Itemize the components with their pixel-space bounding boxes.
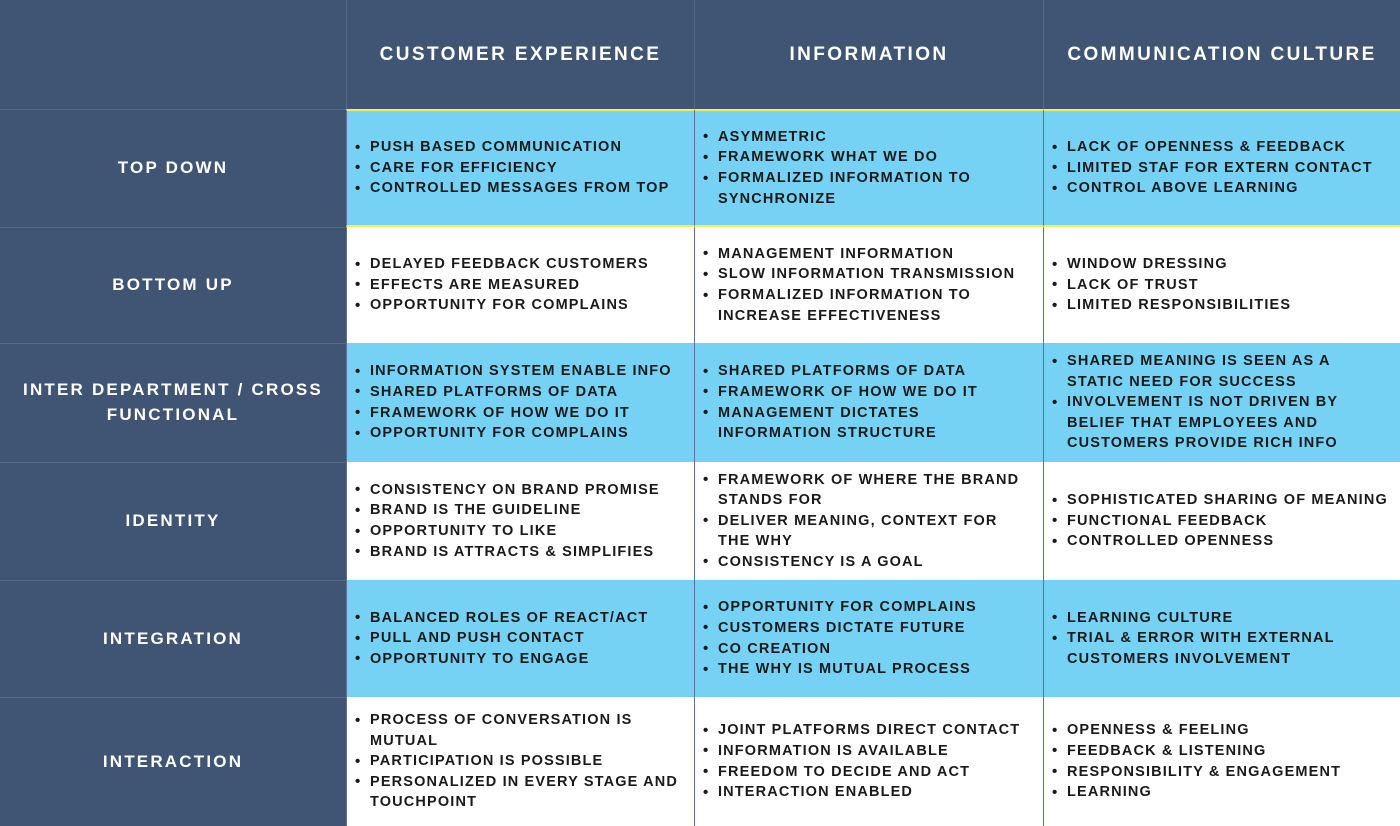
cell-top-down-communication-culture: LACK OF OPENNESS & FEEDBACKLIMITED STAF … [1043,109,1400,227]
bullet-item: THE WHY IS MUTUAL PROCESS [703,659,1033,680]
bullet-item: SHARED PLATFORMS OF DATA [355,382,684,403]
bullet-item: SHARED MEANING IS SEEN AS A STATIC NEED … [1052,351,1390,392]
cell-identity-information: FRAMEWORK OF WHERE THE BRAND STANDS FORD… [694,462,1043,580]
bullet-list: PUSH BASED COMMUNICATIONCARE FOR EFFICIE… [355,137,684,199]
cell-integration-customer-experience: BALANCED ROLES OF REACT/ACTPULL AND PUSH… [346,580,694,697]
bullet-item: EFFECTS ARE MEASURED [355,275,684,296]
bullet-item: INVOLVEMENT IS NOT DRIVEN BY BELIEF THAT… [1052,392,1390,454]
bullet-item: BRAND IS ATTRACTS & SIMPLIFIES [355,542,684,563]
column-header-label: COMMUNICATION CULTURE [1067,44,1376,66]
bullet-item: PROCESS OF CONVERSATION IS MUTUAL [355,710,684,751]
cell-interaction-information: JOINT PLATFORMS DIRECT CONTACTINFORMATIO… [694,697,1043,826]
bullet-item: JOINT PLATFORMS DIRECT CONTACT [703,720,1033,741]
bullet-list: LEARNING CULTURETRIAL & ERROR WITH EXTER… [1052,608,1390,670]
bullet-item: FRAMEWORK WHAT WE DO [703,147,1033,168]
row-header-interaction: INTERACTION [0,697,346,826]
cell-bottom-up-customer-experience: DELAYED FEEDBACK CUSTOMERSEFFECTS ARE ME… [346,227,694,343]
bullet-list: SHARED PLATFORMS OF DATAFRAMEWORK OF HOW… [703,361,1033,443]
bullet-item: MANAGEMENT INFORMATION [703,244,1033,265]
bullet-item: INFORMATION SYSTEM ENABLE INFO [355,361,684,382]
bullet-item: TRIAL & ERROR WITH EXTERNAL CUSTOMERS IN… [1052,628,1390,669]
bullet-item: FRAMEWORK OF WHERE THE BRAND STANDS FOR [703,470,1033,511]
bullet-list: BALANCED ROLES OF REACT/ACTPULL AND PUSH… [355,608,684,670]
bullet-item: FORMALIZED INFORMATION TO SYNCHRONIZE [703,168,1033,209]
matrix-corner-cell [0,0,346,109]
bullet-item: CONTROL ABOVE LEARNING [1052,178,1390,199]
bullet-list: MANAGEMENT INFORMATIONSLOW INFORMATION T… [703,244,1033,326]
bullet-list: LACK OF OPENNESS & FEEDBACKLIMITED STAF … [1052,137,1390,199]
bullet-item: FUNCTIONAL FEEDBACK [1052,511,1390,532]
cell-inter-department-customer-experience: INFORMATION SYSTEM ENABLE INFOSHARED PLA… [346,343,694,462]
column-header-label: INFORMATION [789,44,948,66]
cell-identity-communication-culture: SOPHISTICATED SHARING OF MEANINGFUNCTION… [1043,462,1400,580]
bullet-item: FORMALIZED INFORMATION TO INCREASE EFFEC… [703,285,1033,326]
cell-integration-communication-culture: LEARNING CULTURETRIAL & ERROR WITH EXTER… [1043,580,1400,697]
bullet-item: SLOW INFORMATION TRANSMISSION [703,264,1033,285]
bullet-item: OPPORTUNITY TO ENGAGE [355,649,684,670]
bullet-item: LIMITED STAF FOR EXTERN CONTACT [1052,158,1390,179]
bullet-list: INFORMATION SYSTEM ENABLE INFOSHARED PLA… [355,361,684,443]
bullet-item: INFORMATION IS AVAILABLE [703,741,1033,762]
bullet-item: LEARNING CULTURE [1052,608,1390,629]
bullet-item: OPPORTUNITY FOR COMPLAINS [355,423,684,444]
bullet-item: PERSONALIZED IN EVERY STAGE AND TOUCHPOI… [355,772,684,813]
bullet-item: INTERACTION ENABLED [703,782,1033,803]
cell-interaction-communication-culture: OPENNESS & FEELINGFEEDBACK & LISTENINGRE… [1043,697,1400,826]
bullet-item: ASYMMETRIC [703,127,1033,148]
bullet-item: OPPORTUNITY TO LIKE [355,521,684,542]
bullet-list: FRAMEWORK OF WHERE THE BRAND STANDS FORD… [703,470,1033,573]
row-header-top-down: TOP DOWN [0,109,346,227]
bullet-item: WINDOW DRESSING [1052,254,1390,275]
bullet-list: DELAYED FEEDBACK CUSTOMERSEFFECTS ARE ME… [355,254,684,316]
bullet-item: PULL AND PUSH CONTACT [355,628,684,649]
bullet-list: PROCESS OF CONVERSATION IS MUTUALPARTICI… [355,710,684,813]
bullet-item: LACK OF TRUST [1052,275,1390,296]
cell-integration-information: OPPORTUNITY FOR COMPLAINSCUSTOMERS DICTA… [694,580,1043,697]
row-header-label: TOP DOWN [118,156,228,181]
bullet-item: CONTROLLED MESSAGES FROM TOP [355,178,684,199]
bullet-item: CONSISTENCY IS A GOAL [703,552,1033,573]
bullet-item: DELAYED FEEDBACK CUSTOMERS [355,254,684,275]
bullet-item: PUSH BASED COMMUNICATION [355,137,684,158]
bullet-item: OPPORTUNITY FOR COMPLAINS [703,597,1033,618]
cell-bottom-up-communication-culture: WINDOW DRESSINGLACK OF TRUSTLIMITED RESP… [1043,227,1400,343]
bullet-item: PARTICIPATION IS POSSIBLE [355,751,684,772]
row-header-label: INTER DEPARTMENT / CROSS FUNCTIONAL [10,378,336,427]
cell-top-down-information: ASYMMETRICFRAMEWORK WHAT WE DOFORMALIZED… [694,109,1043,227]
bullet-item: SOPHISTICATED SHARING OF MEANING [1052,490,1390,511]
row-header-inter-department-cross-functional: INTER DEPARTMENT / CROSS FUNCTIONAL [0,343,346,462]
bullet-item: OPENNESS & FEELING [1052,720,1390,741]
row-header-integration: INTEGRATION [0,580,346,697]
column-header-information: INFORMATION [694,0,1043,109]
bullet-list: SHARED MEANING IS SEEN AS A STATIC NEED … [1052,351,1390,454]
row-header-identity: IDENTITY [0,462,346,580]
bullet-item: MANAGEMENT DICTATES INFORMATION STRUCTUR… [703,403,1033,444]
row-header-label: BOTTOM UP [112,273,234,298]
bullet-item: FRAMEWORK OF HOW WE DO IT [355,403,684,424]
bullet-item: FEEDBACK & LISTENING [1052,741,1390,762]
bullet-item: CARE FOR EFFICIENCY [355,158,684,179]
bullet-list: ASYMMETRICFRAMEWORK WHAT WE DOFORMALIZED… [703,127,1033,209]
column-header-customer-experience: CUSTOMER EXPERIENCE [346,0,694,109]
bullet-item: LACK OF OPENNESS & FEEDBACK [1052,137,1390,158]
bullet-item: CUSTOMERS DICTATE FUTURE [703,618,1033,639]
bullet-item: BALANCED ROLES OF REACT/ACT [355,608,684,629]
bullet-item: CONSISTENCY ON BRAND PROMISE [355,480,684,501]
bullet-item: CO CREATION [703,639,1033,660]
column-header-communication-culture: COMMUNICATION CULTURE [1043,0,1400,109]
bullet-item: LEARNING [1052,782,1390,803]
bullet-item: CONTROLLED OPENNESS [1052,531,1390,552]
cell-inter-department-information: SHARED PLATFORMS OF DATAFRAMEWORK OF HOW… [694,343,1043,462]
bullet-item: BRAND IS THE GUIDELINE [355,500,684,521]
bullet-list: OPPORTUNITY FOR COMPLAINSCUSTOMERS DICTA… [703,597,1033,679]
bullet-item: FREEDOM TO DECIDE AND ACT [703,762,1033,783]
cell-bottom-up-information: MANAGEMENT INFORMATIONSLOW INFORMATION T… [694,227,1043,343]
communication-matrix-table: CUSTOMER EXPERIENCE INFORMATION COMMUNIC… [0,0,1400,826]
row-header-label: INTERACTION [103,750,243,775]
bullet-item: OPPORTUNITY FOR COMPLAINS [355,295,684,316]
bullet-list: SOPHISTICATED SHARING OF MEANINGFUNCTION… [1052,490,1390,552]
bullet-item: RESPONSIBILITY & ENGAGEMENT [1052,762,1390,783]
cell-inter-department-communication-culture: SHARED MEANING IS SEEN AS A STATIC NEED … [1043,343,1400,462]
cell-identity-customer-experience: CONSISTENCY ON BRAND PROMISEBRAND IS THE… [346,462,694,580]
bullet-list: CONSISTENCY ON BRAND PROMISEBRAND IS THE… [355,480,684,562]
bullet-list: OPENNESS & FEELINGFEEDBACK & LISTENINGRE… [1052,720,1390,802]
row-header-label: IDENTITY [125,509,220,534]
cell-top-down-customer-experience: PUSH BASED COMMUNICATIONCARE FOR EFFICIE… [346,109,694,227]
bullet-item: FRAMEWORK OF HOW WE DO IT [703,382,1033,403]
row-header-bottom-up: BOTTOM UP [0,227,346,343]
bullet-item: SHARED PLATFORMS OF DATA [703,361,1033,382]
bullet-item: DELIVER MEANING, CONTEXT FOR THE WHY [703,511,1033,552]
row-header-label: INTEGRATION [103,627,243,652]
bullet-item: LIMITED RESPONSIBILITIES [1052,295,1390,316]
bullet-list: WINDOW DRESSINGLACK OF TRUSTLIMITED RESP… [1052,254,1390,316]
bullet-list: JOINT PLATFORMS DIRECT CONTACTINFORMATIO… [703,720,1033,802]
cell-interaction-customer-experience: PROCESS OF CONVERSATION IS MUTUALPARTICI… [346,697,694,826]
column-header-label: CUSTOMER EXPERIENCE [380,44,662,66]
